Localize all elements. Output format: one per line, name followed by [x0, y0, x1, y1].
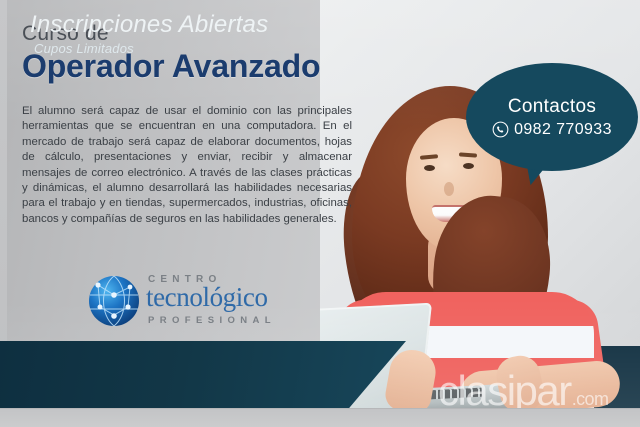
contact-bubble[interactable]: Contactos 0982 770933: [466, 63, 638, 171]
photo-eye-left: [424, 165, 435, 171]
contact-phone-number: 0982 770933: [514, 121, 612, 139]
photo-eye-right: [463, 163, 474, 169]
logo-line-tecnologico: tecnológico: [146, 282, 268, 313]
enrollment-banner: [0, 341, 406, 408]
contact-title: Contactos: [508, 96, 596, 118]
logo-line-profesional: PROFESIONAL: [148, 315, 276, 326]
course-description: El alumno será capaz de usar el dominio …: [22, 104, 352, 227]
enrollment-subtext: Cupos Limitados: [34, 41, 134, 56]
brand-logo: CENTRO tecnológico PROFESIONAL: [88, 272, 314, 330]
whatsapp-icon: [492, 121, 509, 138]
network-globe-icon: [88, 275, 140, 327]
bottom-edge-strip: [0, 408, 640, 427]
enrollment-headline: Inscripciones Abiertas: [30, 11, 268, 39]
brand-logo-text: CENTRO tecnológico PROFESIONAL: [146, 272, 314, 330]
contact-phone-row[interactable]: 0982 770933: [492, 121, 612, 139]
photo-nose: [444, 182, 454, 196]
advertisement-poster: Curso de Operador Avanzado El alumno ser…: [0, 0, 640, 427]
